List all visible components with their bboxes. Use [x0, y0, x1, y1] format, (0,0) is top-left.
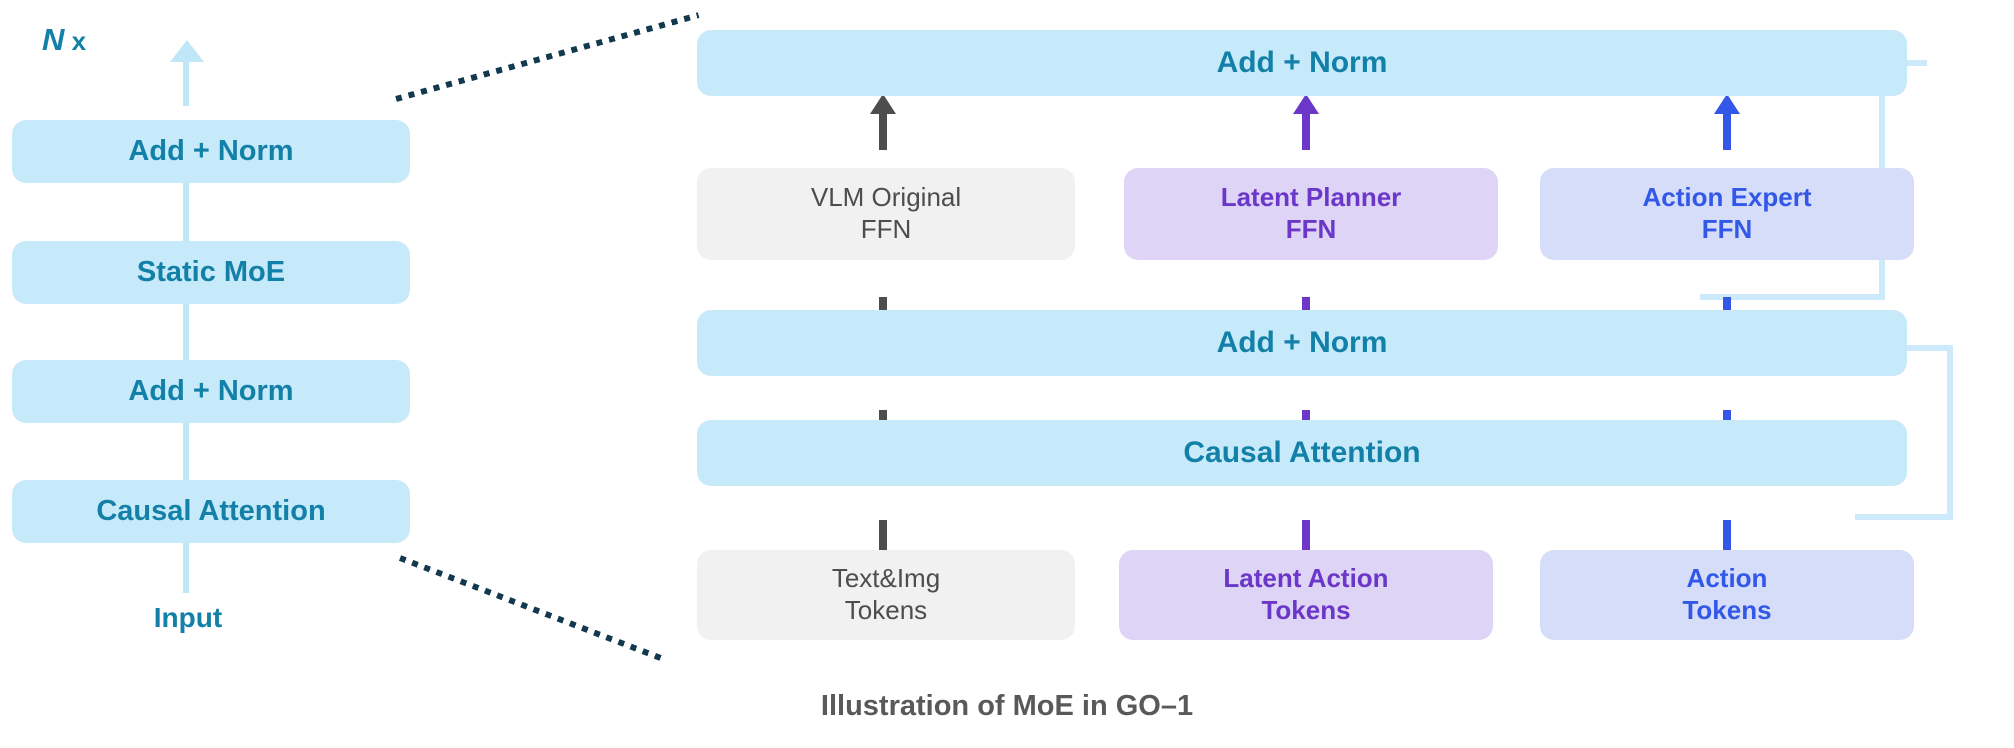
token-label: Latent Action Tokens — [1223, 563, 1388, 626]
arrowhead-latent-icon — [1293, 94, 1319, 114]
token-box-action: Action Tokens — [1540, 550, 1914, 640]
residual-route-lower-bottom — [1855, 514, 1953, 520]
top-add-norm-label: Add + Norm — [1217, 45, 1388, 82]
expert-label: Action Expert FFN — [1642, 182, 1811, 245]
token-label: Text&Img Tokens — [832, 563, 940, 626]
token-box-text-img: Text&Img Tokens — [697, 550, 1075, 640]
diagram-canvas: N x Add + Norm Static MoE Add + Norm Cau… — [0, 0, 2014, 748]
expert-box-action-expert-ffn: Action Expert FFN — [1540, 168, 1914, 260]
residual-route-lower-vertical — [1947, 345, 1953, 520]
top-add-norm-bar: Add + Norm — [697, 30, 1907, 96]
token-label: Action Tokens — [1682, 563, 1771, 626]
expert-box-vlm-original-ffn: VLM Original FFN — [697, 168, 1075, 260]
arrowhead-action-icon — [1714, 94, 1740, 114]
mid-add-norm-bar: Add + Norm — [697, 310, 1907, 376]
connector-vlm-ffn-to-top-addnorm — [879, 113, 887, 150]
connector-latent-ffn-to-top-addnorm — [1302, 113, 1310, 150]
expert-label: VLM Original FFN — [811, 182, 961, 245]
right-panel-moe-detail: Add + Norm VLM Original FFN Latent Plann… — [0, 0, 2014, 748]
arrowhead-vlm-icon — [870, 94, 896, 114]
mid-add-norm-label: Add + Norm — [1217, 325, 1388, 362]
token-box-latent-action: Latent Action Tokens — [1119, 550, 1493, 640]
causal-attention-bar: Causal Attention — [697, 420, 1907, 486]
figure-caption: Illustration of MoE in GO–1 — [0, 690, 2014, 723]
connector-action-ffn-to-top-addnorm — [1723, 113, 1731, 150]
expert-box-latent-planner-ffn: Latent Planner FFN — [1124, 168, 1498, 260]
expert-label: Latent Planner FFN — [1221, 182, 1402, 245]
causal-attention-label: Causal Attention — [1183, 435, 1420, 472]
